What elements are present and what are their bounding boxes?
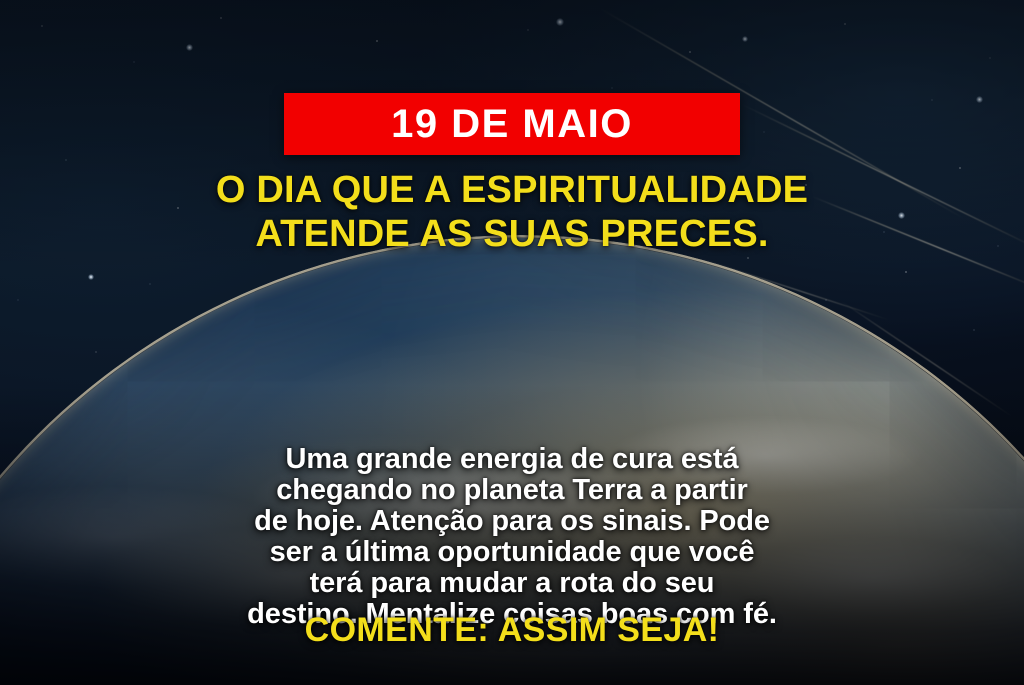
call-to-action-label: COMENTE: ASSIM SEJA!	[305, 611, 720, 649]
body-line-5: terá para mudar a rota do seu	[40, 568, 984, 599]
body-copy: Uma grande energia de cura está chegando…	[0, 444, 1024, 630]
poster-content: 19 DE MAIO O DIA QUE A ESPIRITUALIDADE A…	[0, 0, 1024, 685]
call-to-action: COMENTE: ASSIM SEJA!	[0, 613, 1024, 647]
date-banner-label: 19 DE MAIO	[391, 104, 633, 144]
poster-canvas: 19 DE MAIO O DIA QUE A ESPIRITUALIDADE A…	[0, 0, 1024, 685]
headline: O DIA QUE A ESPIRITUALIDADE ATENDE AS SU…	[0, 168, 1024, 256]
body-line-1: Uma grande energia de cura está	[40, 444, 984, 475]
headline-line-1: O DIA QUE A ESPIRITUALIDADE	[40, 168, 984, 212]
body-line-3: de hoje. Atenção para os sinais. Pode	[40, 506, 984, 537]
headline-line-2: ATENDE AS SUAS PRECES.	[40, 212, 984, 256]
body-line-4: ser a última oportunidade que você	[40, 537, 984, 568]
body-line-2: chegando no planeta Terra a partir	[40, 475, 984, 506]
date-banner: 19 DE MAIO	[284, 93, 740, 155]
